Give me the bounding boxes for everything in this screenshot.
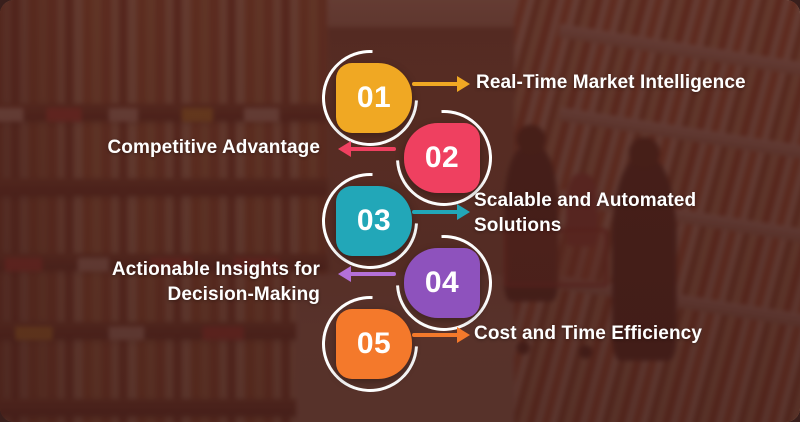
step-number-text-04: 04 (425, 266, 459, 300)
step-05[interactable]: 05 (322, 296, 422, 392)
step-label-03: Scalable and Automated Solutions (474, 189, 764, 238)
step-arrow-02 (338, 147, 396, 151)
arrow-shaft (348, 272, 396, 276)
arrow-head-right-icon (457, 327, 470, 343)
step-arrow-01 (412, 82, 470, 86)
arrow-head-right-icon (457, 76, 470, 92)
step-arrow-03 (412, 210, 470, 214)
arrow-shaft (412, 333, 460, 337)
arrow-head-right-icon (457, 204, 470, 220)
arrow-head-left-icon (338, 266, 351, 282)
step-label-01: Real-Time Market Intelligence (476, 71, 776, 96)
arrow-shaft (412, 82, 460, 86)
step-number-text-05: 05 (357, 327, 391, 361)
step-arrow-05 (412, 333, 470, 337)
step-number-text-02: 02 (425, 141, 459, 175)
infographic-container: 01 Real-Time Market Intelligence 02 Comp… (0, 0, 800, 422)
step-arrow-04 (338, 272, 396, 276)
step-number-text-03: 03 (357, 204, 391, 238)
step-label-05: Cost and Time Efficiency (474, 322, 774, 347)
step-label-02: Competitive Advantage (20, 136, 320, 161)
step-number-badge-05[interactable]: 05 (336, 309, 412, 379)
step-label-04: Actionable Insights for Decision-Making (20, 258, 320, 307)
arrow-head-left-icon (338, 141, 351, 157)
step-number-text-01: 01 (357, 81, 391, 115)
arrow-shaft (412, 210, 460, 214)
steps-layer: 01 Real-Time Market Intelligence 02 Comp… (0, 0, 800, 422)
arrow-shaft (348, 147, 396, 151)
